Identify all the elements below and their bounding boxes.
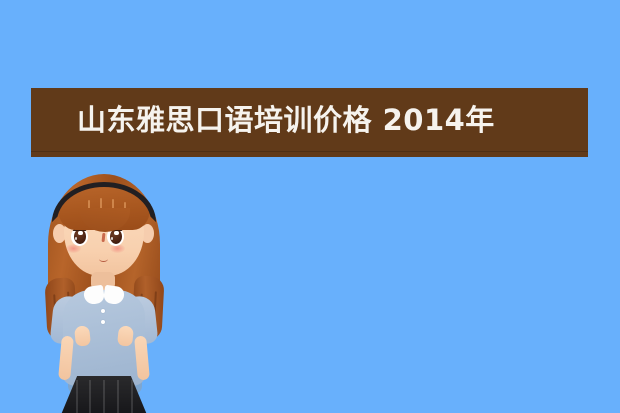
banner-divider (31, 151, 588, 152)
poster-canvas: 山东雅思口语培训价格 2014年 (0, 0, 620, 413)
title-banner: 山东雅思口语培训价格 2014年 (31, 88, 588, 157)
mouth (99, 256, 108, 262)
shirt-button-bottom (101, 320, 105, 324)
page-title: 山东雅思口语培训价格 2014年 (77, 100, 547, 140)
shirt-button-top (101, 309, 105, 313)
schoolgirl-illustration (34, 168, 174, 413)
hand-left (74, 325, 91, 346)
headband (52, 182, 156, 222)
